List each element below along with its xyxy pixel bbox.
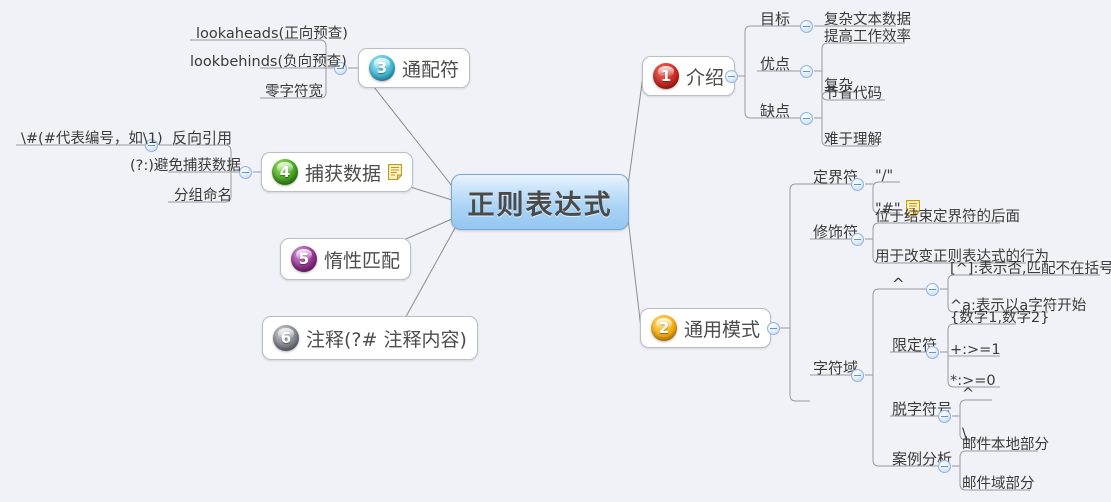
collapse-toggle-mubiao[interactable]	[800, 20, 813, 33]
node-label: ^	[962, 387, 974, 402]
node-label: 目标	[760, 12, 790, 27]
node-quedian[interactable]: 缺点	[756, 104, 794, 122]
node-label: "/"	[875, 169, 893, 184]
node-tuozi-caret[interactable]: ^	[958, 387, 978, 405]
node-label: 位于结束定界符的后面	[875, 210, 1020, 225]
node-caret-negate[interactable]: [^]:表示否,匹配不在括号内的字符	[946, 262, 1111, 280]
node-lookaheads[interactable]: lookaheads(正向预查)	[192, 27, 352, 45]
node-weiyu-jieshu-dingjiefu[interactable]: 位于结束定界符的后面	[871, 210, 1024, 228]
node-lookbehinds[interactable]: lookbehinds(负向预查)	[186, 55, 351, 73]
node-label: 复杂	[824, 79, 853, 94]
node-label: \#(#代表编号，如\1)	[21, 132, 163, 147]
node-label: {数字1,数字2}	[950, 311, 1050, 326]
branch-label-2: 通用模式	[684, 315, 760, 342]
branch-badge-4: 4	[272, 159, 298, 185]
collapse-toggle-zifuyu[interactable]	[851, 369, 864, 382]
node-label: ^	[892, 277, 905, 292]
node-label: 提高工作效率	[824, 30, 911, 45]
collapse-toggle-caret[interactable]	[926, 283, 939, 296]
branch-badge-5: 5	[291, 246, 317, 272]
node-backref-syntax[interactable]: \#(#代表编号，如\1)	[17, 132, 167, 150]
branch-node-1[interactable]: 1 介绍	[642, 56, 735, 96]
node-fuza-wenben-shuju[interactable]: 复杂文本数据	[820, 13, 915, 31]
collapse-toggle-dingjiefu[interactable]	[851, 178, 864, 191]
node-mail-local[interactable]: 邮件本地部分	[958, 438, 1053, 456]
node-label: 反向引用	[172, 131, 232, 146]
collapse-toggle-xiandingfu[interactable]	[926, 346, 939, 359]
branch-node-4[interactable]: 4 捕获数据	[261, 152, 413, 192]
node-nanyu-lijie[interactable]: 难于理解	[820, 133, 886, 151]
node-tigao-gongzuo-xiaolv[interactable]: 提高工作效率	[820, 30, 915, 48]
node-label: 邮件域部分	[962, 477, 1035, 492]
collapse-toggle-xiushifu[interactable]	[851, 233, 864, 246]
mindmap-canvas: 正则表达式 1 介绍 目标 复杂文本数据 优点 提高工作效率 节省代码 缺点 复…	[0, 0, 1111, 502]
node-label: lookbehinds(负向预查)	[190, 55, 347, 70]
branch-label-1: 介绍	[686, 63, 724, 90]
node-youdian[interactable]: 优点	[756, 57, 794, 75]
node-zero-width[interactable]: 零字符宽	[261, 85, 327, 103]
node-label: 复杂文本数据	[824, 13, 911, 28]
collapse-toggle-branch-2[interactable]	[767, 322, 780, 335]
branch-badge-1: 1	[653, 63, 679, 89]
root-label: 正则表达式	[468, 183, 613, 222]
collapse-toggle-tuozifuhao[interactable]	[938, 410, 951, 423]
branch-label-6: 注释(?# 注释内容)	[306, 325, 467, 352]
branch-badge-3: 3	[369, 55, 395, 81]
branch-node-3[interactable]: 3 通配符	[358, 48, 470, 88]
node-fuza[interactable]: 复杂	[820, 79, 857, 97]
node-fanxiang-yinyong[interactable]: 反向引用	[168, 131, 236, 149]
node-label: 缺点	[760, 104, 790, 119]
node-group-naming[interactable]: 分组命名	[170, 189, 236, 207]
node-label: 零字符宽	[265, 85, 323, 100]
node-label: 分组命名	[174, 189, 232, 204]
node-caret[interactable]: ^	[888, 277, 909, 295]
branch-label-5: 惰性匹配	[324, 246, 400, 273]
branch-node-2[interactable]: 2 通用模式	[640, 308, 771, 348]
collapse-toggle-anli-fenxi[interactable]	[938, 460, 951, 473]
branch-label-3: 通配符	[402, 55, 459, 82]
node-label: +:>=1	[950, 343, 1001, 358]
node-label: (?:)避免捕获数据	[130, 159, 241, 174]
branch-badge-6: 6	[273, 325, 299, 351]
branch-node-5[interactable]: 5 惰性匹配	[280, 238, 411, 280]
node-mail-domain[interactable]: 邮件域部分	[958, 477, 1039, 495]
node-label: 邮件本地部分	[962, 438, 1049, 453]
collapse-toggle-quedian[interactable]	[800, 112, 813, 125]
note-icon	[388, 164, 402, 180]
branch-badge-2: 2	[651, 315, 677, 341]
node-label: lookaheads(正向预查)	[196, 27, 348, 42]
node-label: 优点	[760, 57, 790, 72]
branch-label-4: 捕获数据	[305, 159, 381, 186]
node-mubiao[interactable]: 目标	[756, 12, 794, 30]
node-slash-delim[interactable]: "/"	[871, 169, 897, 187]
branch-node-6[interactable]: 6 注释(?# 注释内容)	[262, 316, 478, 360]
node-label: [^]:表示否,匹配不在括号内的字符	[950, 262, 1111, 277]
collapse-toggle-youdian[interactable]	[800, 65, 813, 78]
collapse-toggle-branch-1[interactable]	[725, 70, 738, 83]
node-label: 难于理解	[824, 133, 882, 148]
root-node[interactable]: 正则表达式	[451, 174, 629, 230]
node-quantifier-plus[interactable]: +:>=1	[946, 343, 1005, 361]
node-quantifier-braces[interactable]: {数字1,数字2}	[946, 311, 1054, 329]
node-noncapture-group[interactable]: (?:)避免捕获数据	[126, 159, 245, 177]
